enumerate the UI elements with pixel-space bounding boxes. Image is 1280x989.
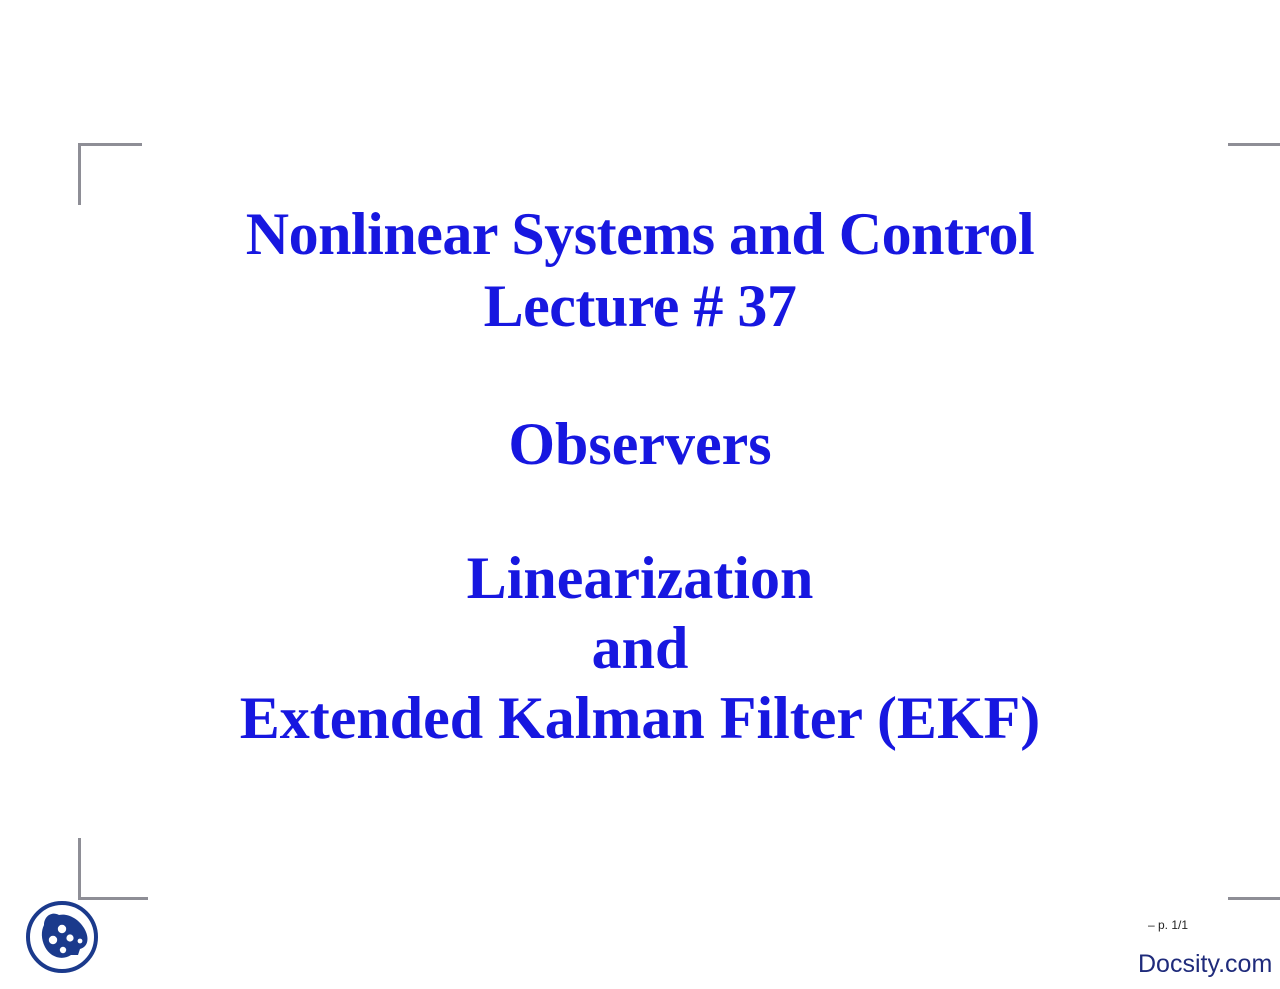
slide-topic-line-3: Extended Kalman Filter (EKF) [0,688,1280,748]
title-section-spacer [0,336,1280,414]
slide-topic: Linearization and Extended Kalman Filter… [0,548,1280,748]
docsity-ocarina-logo[interactable] [22,897,102,977]
docsity-ocarina-logo-icon [22,897,102,977]
slide-topic-line-2: and [0,618,1280,678]
crop-mark-bottom-right-horizontal [1228,897,1280,900]
crop-mark-top-left-vertical [78,143,81,205]
slide-topic-line-1: Linearization [0,548,1280,608]
slide-content: Nonlinear Systems and Control Lecture # … [0,204,1280,748]
crop-mark-bottom-left-vertical [78,838,81,900]
crop-mark-top-right-horizontal [1228,143,1280,146]
page-number-label: – p. 1/1 [1148,918,1280,932]
docsity-wordmark[interactable]: Docsity.com [1138,950,1272,979]
crop-mark-bottom-right [1228,838,1280,900]
slide-title-line-2: Lecture # 37 [0,276,1280,336]
crop-mark-top-left-horizontal [78,143,142,146]
slide-title-line-1: Nonlinear Systems and Control [0,204,1280,264]
crop-mark-bottom-left [78,838,148,900]
slide-section-heading: Observers [0,414,1280,474]
section-topic-spacer [0,474,1280,548]
crop-mark-top-left [78,143,142,205]
slide-title: Nonlinear Systems and Control Lecture # … [0,204,1280,336]
crop-mark-top-right [1228,143,1280,205]
slide-page: Nonlinear Systems and Control Lecture # … [0,0,1280,989]
